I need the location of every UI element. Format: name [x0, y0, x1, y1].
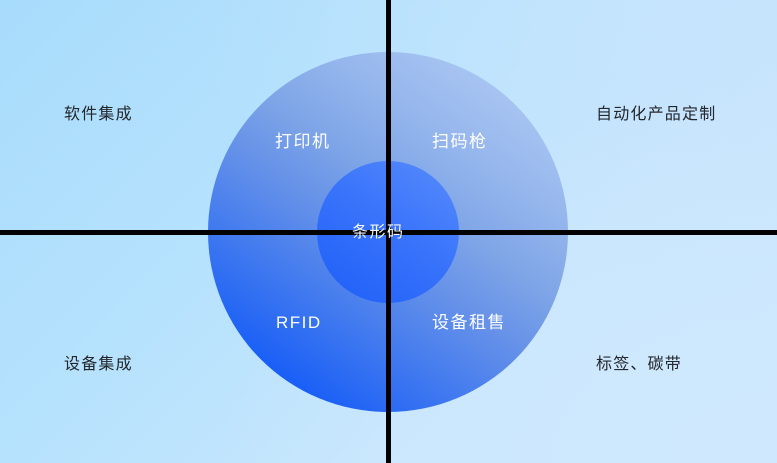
core-label-barcode: 条形码 [352, 225, 405, 241]
diagram-canvas: 软件集成 自动化产品定制 设备集成 标签、碳带 打印机 扫码枪 RFID 设备租… [0, 0, 777, 463]
ring-label-rfid: RFID [276, 314, 322, 331]
ring-label-printer: 打印机 [275, 133, 331, 150]
ring-label-equipment-rental: 设备租售 [432, 314, 506, 331]
quadrant-label-labels-ribbons: 标签、碳带 [596, 357, 682, 373]
quadrant-label-software-integration: 软件集成 [64, 107, 133, 123]
ring-label-scanner: 扫码枪 [432, 133, 488, 150]
quadrant-label-equipment-integration: 设备集成 [64, 357, 133, 373]
quadrant-label-automation-customizing: 自动化产品定制 [596, 107, 716, 123]
